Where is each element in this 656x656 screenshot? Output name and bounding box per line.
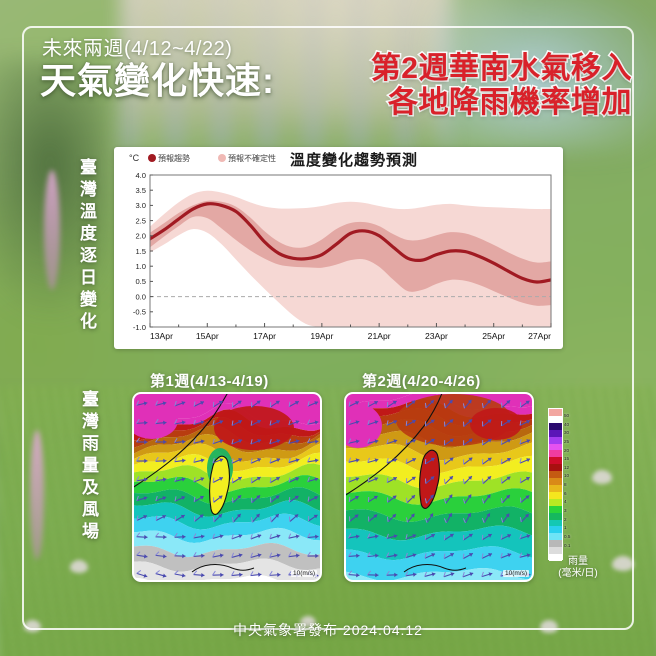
header-subtitle: 未來兩週(4/12~4/22) — [42, 32, 232, 61]
legend-item-uncertainty: 預報不確定性 — [218, 153, 276, 164]
colorbar-tick: 0.5 — [564, 535, 570, 540]
colorbar-caption: 雨量 (毫米/日) — [528, 556, 628, 579]
svg-text:21Apr: 21Apr — [368, 331, 391, 341]
svg-text:-0.5: -0.5 — [133, 308, 146, 317]
chart-title: 溫度變化趨勢預測 — [290, 149, 418, 170]
svg-text:19Apr: 19Apr — [310, 331, 333, 341]
legend-dot-trend-icon — [148, 154, 156, 162]
footer-credit: 中央氣象署發布 2024.04.12 — [0, 620, 656, 640]
colorbar-tick: 20 — [564, 449, 569, 454]
section-label-rainfall: 臺灣雨量及風場 — [80, 390, 97, 544]
colorbar-tick: 50 — [564, 414, 569, 419]
poster-content: 未來兩週(4/12~4/22) 天氣變化快速: 第2週華南水氣移入 各地降雨機率… — [0, 0, 656, 656]
svg-text:0.5: 0.5 — [135, 277, 146, 286]
rainfall-map-week1[interactable]: 10(m/s) — [132, 392, 322, 582]
temperature-chart-card: °C 預報趨勢 預報不確定性 溫度變化趨勢預測 4.03.53.02.52.01… — [114, 147, 563, 349]
colorbar-tick: 2 — [564, 518, 567, 523]
chart-header: °C 預報趨勢 預報不確定性 溫度變化趨勢預測 — [120, 151, 557, 169]
colorbar-caption-line1: 雨量 — [528, 556, 628, 568]
svg-text:3.0: 3.0 — [135, 201, 146, 210]
header-highlight: 第2週華南水氣移入 各地降雨機率增加 — [371, 52, 632, 119]
colorbar-segment — [549, 437, 562, 444]
colorbar-segment — [549, 499, 562, 506]
colorbar-tick: 4 — [564, 500, 567, 505]
wind-scale-week2: 10(m/s) — [503, 570, 529, 577]
colorbar-tick: 1 — [564, 526, 567, 531]
wind-scale-week1: 10(m/s) — [291, 570, 317, 577]
legend-item-trend: 預報趨勢 — [148, 153, 190, 164]
page-title: 天氣變化快速: — [40, 62, 275, 100]
colorbar-gradient — [548, 408, 563, 560]
colorbar-segment — [549, 416, 562, 423]
svg-text:1.0: 1.0 — [135, 262, 146, 271]
svg-text:23Apr: 23Apr — [425, 331, 448, 341]
header-highlight-line2: 各地降雨機率增加 — [371, 86, 632, 120]
colorbar-segment — [549, 478, 562, 485]
colorbar-tick: 0.1 — [564, 544, 570, 549]
colorbar-segment — [549, 485, 562, 492]
colorbar-segment — [549, 450, 562, 457]
svg-text:3.5: 3.5 — [135, 186, 146, 195]
colorbar-segment — [549, 492, 562, 499]
legend-label-uncertainty: 預報不確定性 — [228, 154, 276, 163]
svg-text:1.5: 1.5 — [135, 247, 146, 256]
svg-text:4.0: 4.0 — [135, 171, 146, 180]
colorbar-segment — [549, 444, 562, 451]
colorbar-tick: 30 — [564, 431, 569, 436]
colorbar-segment — [549, 423, 562, 430]
legend-label-trend: 預報趨勢 — [158, 154, 190, 163]
colorbar-tick: 10 — [564, 474, 569, 479]
colorbar-segment — [549, 457, 562, 464]
colorbar-segment — [549, 520, 562, 527]
colorbar-tick: 25 — [564, 440, 569, 445]
map-title-week2: 第2週(4/20-4/26) — [362, 370, 481, 391]
rainfall-map-week2[interactable]: 10(m/s) — [344, 392, 534, 582]
svg-text:13Apr: 13Apr — [150, 331, 173, 341]
colorbar-segment — [549, 540, 562, 547]
svg-text:2.5: 2.5 — [135, 216, 146, 225]
svg-text:0.0: 0.0 — [135, 292, 146, 301]
chart-plot-area: 4.03.53.02.52.01.51.00.50.0-0.5-1.013Apr… — [120, 169, 557, 347]
colorbar-tick: 8 — [564, 483, 567, 488]
svg-text:-1.0: -1.0 — [133, 323, 146, 332]
colorbar-caption-line2: (毫米/日) — [528, 568, 628, 580]
colorbar-segment — [549, 547, 562, 554]
colorbar-tick: 12 — [564, 466, 569, 471]
legend-dot-uncertainty-icon — [218, 154, 226, 162]
colorbar-segment — [549, 526, 562, 533]
colorbar-tick: 6 — [564, 492, 567, 497]
colorbar-segment — [549, 409, 562, 416]
colorbar-segment — [549, 430, 562, 437]
colorbar-segment — [549, 513, 562, 520]
colorbar-tick-labels: 50403025201512108643210.50.1 — [564, 404, 604, 564]
svg-text:2.0: 2.0 — [135, 232, 146, 241]
colorbar-segment — [549, 506, 562, 513]
svg-text:27Apr: 27Apr — [528, 331, 551, 341]
chart-unit-label: °C — [129, 153, 139, 163]
colorbar-tick: 15 — [564, 457, 569, 462]
section-label-temperature: 臺灣溫度逐日變化 — [78, 158, 95, 334]
colorbar-segment — [549, 471, 562, 478]
colorbar-segment — [549, 533, 562, 540]
rainfall-colorbar: 50403025201512108643210.50.1 — [548, 408, 604, 560]
svg-text:17Apr: 17Apr — [253, 331, 276, 341]
colorbar-tick: 40 — [564, 423, 569, 428]
colorbar-tick: 3 — [564, 509, 567, 514]
header-highlight-line1: 第2週華南水氣移入 — [371, 52, 632, 86]
map-title-week1: 第1週(4/13-4/19) — [150, 370, 269, 391]
svg-text:25Apr: 25Apr — [482, 331, 505, 341]
svg-text:15Apr: 15Apr — [196, 331, 219, 341]
colorbar-segment — [549, 464, 562, 471]
temperature-trend-plot: 4.03.53.02.52.01.51.00.50.0-0.5-1.013Apr… — [120, 169, 557, 347]
